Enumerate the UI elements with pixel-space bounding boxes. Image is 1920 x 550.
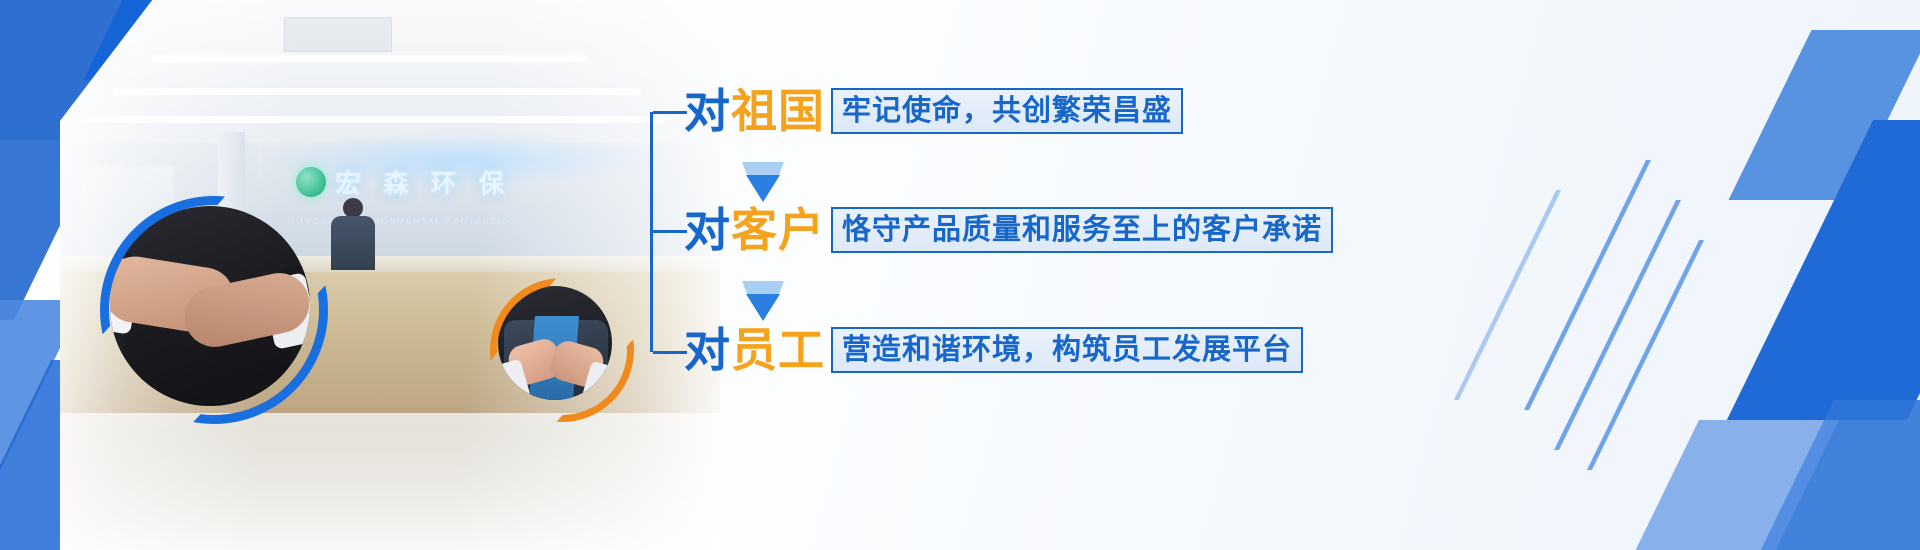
values-bracket [650,112,687,352]
deco-parallelogram-bottom-right-2 [1621,420,1839,550]
value-tag-country: 牢记使命，共创繁荣昌盛 [831,88,1183,134]
value-row-customer: 对客户 恪守产品质量和服务至上的客户承诺 [684,207,1333,253]
value-tag-employee: 营造和谐环境，构筑员工发展平台 [831,327,1303,373]
value-lead-subject: 祖国 [731,84,825,138]
value-lead-prefix: 对 [684,84,731,138]
value-lead-prefix: 对 [684,323,731,377]
value-tag-customer: 恪守产品质量和服务至上的客户承诺 [831,207,1333,253]
deco-parallelogram-right-1 [1727,120,1920,420]
down-arrow-icon [742,281,784,321]
down-arrow-icon-bottom [746,175,780,202]
value-lead-prefix: 对 [684,203,731,257]
down-arrow-icon-top [742,281,784,294]
company-values-banner: 宏 森 环 保 HONGSEN ENVIRONMENTAL PROTECTION [0,0,1920,550]
bracket-arm-1 [653,111,687,114]
down-arrow-icon-bottom [746,294,780,321]
value-lead-employee: 对员工 [684,327,825,373]
value-row-employee: 对员工 营造和谐环境，构筑员工发展平台 [684,327,1303,373]
deco-parallelogram-top-right [1729,30,1920,200]
down-arrow-icon [742,162,784,202]
bracket-arm-3 [653,351,687,354]
down-arrow-icon-top [742,162,784,175]
deco-parallelogram-bottom-right-1 [1746,400,1920,550]
value-lead-customer: 对客户 [684,207,825,253]
value-row-country: 对祖国 牢记使命，共创繁荣昌盛 [684,88,1183,134]
value-lead-subject: 客户 [731,203,825,257]
deco-diagonal-line-right-1 [1524,160,1651,410]
values-content: 对祖国 牢记使命，共创繁荣昌盛 对客户 恪守产品质量和服务至上的客户承诺 对员工… [640,0,1420,550]
value-lead-country: 对祖国 [684,88,825,134]
bracket-arm-2 [653,230,687,233]
value-lead-subject: 员工 [731,323,825,377]
